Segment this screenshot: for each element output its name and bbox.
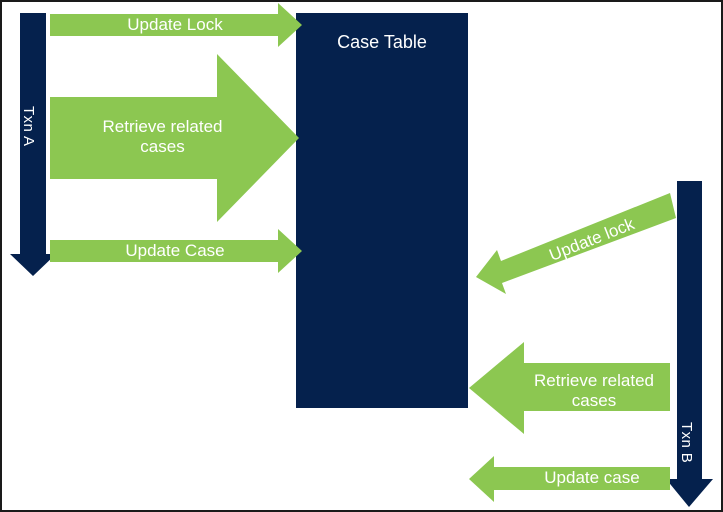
arrow-update-case-a <box>50 229 302 273</box>
case-table-box <box>296 13 468 408</box>
txn-b-label: Txn B <box>678 422 695 463</box>
arrow-retrieve-related-cases-a <box>50 54 299 222</box>
arrow-update-lock-a <box>50 3 302 47</box>
arrow-retrieve-related-cases-b <box>469 342 670 434</box>
arrow-update-case-b <box>469 456 670 502</box>
diagram-canvas: Txn A Txn B Case Table Update Lock Retri… <box>0 0 723 512</box>
diagram-shapes <box>2 2 723 512</box>
arrow-update-lock-b <box>476 193 676 294</box>
txn-a-label: Txn A <box>20 106 37 146</box>
